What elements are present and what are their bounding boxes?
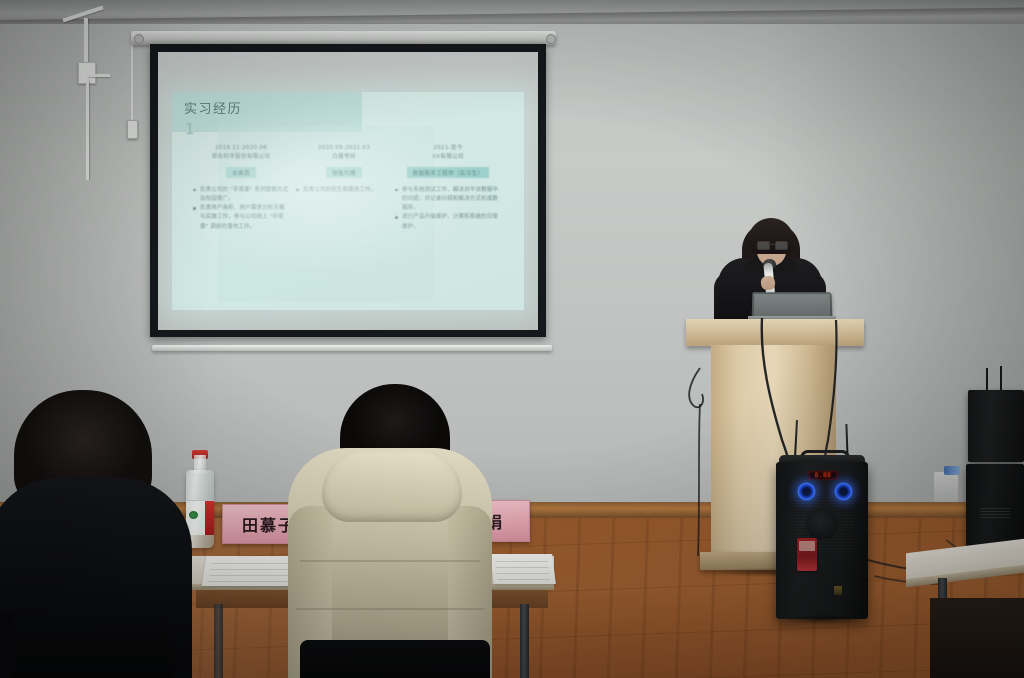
- bottle-label-green: [189, 511, 198, 519]
- screen-bottom-bar: [152, 345, 552, 351]
- wall-plate: [934, 472, 958, 502]
- conduit-branch: [88, 74, 110, 77]
- conduit-vertical-upper: [84, 18, 88, 62]
- chair-post-left: [0, 612, 14, 678]
- projection-screen-frame: 实习经历 1 2019.11-2020.06 郑合科学股份有限公司 业务员 负责…: [150, 44, 546, 337]
- blue-connector: [944, 466, 960, 475]
- speaker-cone: [806, 508, 838, 540]
- speaker-brand-label: [797, 538, 817, 571]
- laptop-bezel: [754, 294, 831, 316]
- paper-left-lines: [208, 561, 290, 581]
- pull-cord: [131, 44, 133, 126]
- speaker-led-display: 8.88: [808, 471, 838, 480]
- presentation-room-photo: 实习经历 1 2019.11-2020.06 郑合科学股份有限公司 业务员 负责…: [0, 0, 1024, 678]
- audience-1-chair: [0, 620, 172, 678]
- conduit-vertical-lower: [86, 80, 89, 180]
- slide-projection-glow: [172, 92, 524, 310]
- paper-left: [202, 556, 299, 586]
- speaker-display-text: 8.88: [815, 472, 831, 479]
- paper-right-lines: [495, 559, 551, 579]
- podium-top: [686, 319, 864, 346]
- audience-2-chair: [300, 640, 490, 678]
- roller-cap-left: [134, 34, 144, 44]
- glasses-icon: [757, 241, 786, 248]
- audience-2-seam-2: [296, 608, 484, 610]
- audience-2-seam-1: [300, 560, 480, 562]
- roller-cap-right: [546, 34, 556, 44]
- desk-leg-right: [520, 604, 529, 678]
- rack-vent-icon: [980, 506, 1010, 518]
- side-table-under: [930, 598, 1024, 678]
- bottle-label: [186, 500, 214, 535]
- desk-leg-left: [214, 604, 223, 678]
- screen-roller-casing: [131, 31, 556, 45]
- speaker-badge: [834, 586, 842, 595]
- projection-screen-surface: 实习经历 1 2019.11-2020.06 郑合科学股份有限公司 业务员 负责…: [158, 52, 538, 330]
- cord-switch[interactable]: [127, 120, 138, 139]
- paper-right: [490, 554, 556, 584]
- speaker-label-inner: [799, 541, 815, 551]
- bottle-label-red: [205, 501, 214, 535]
- speaker-shadow: [770, 612, 876, 626]
- audience-2-hood: [322, 450, 462, 522]
- equipment-rack-top: [968, 390, 1024, 462]
- slide: 实习经历 1 2019.11-2020.06 郑合科学股份有限公司 业务员 负责…: [172, 92, 524, 310]
